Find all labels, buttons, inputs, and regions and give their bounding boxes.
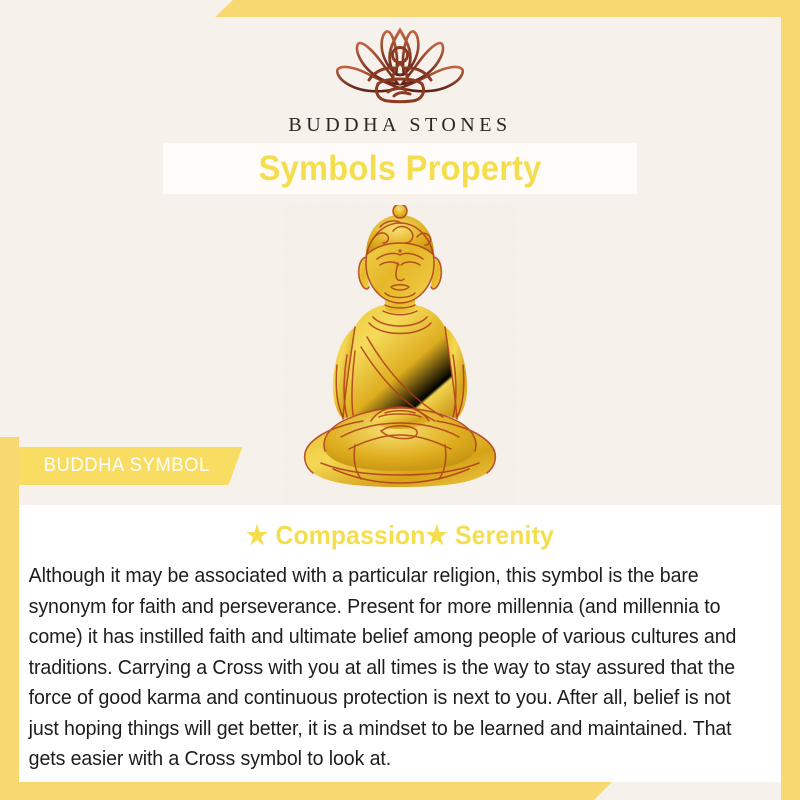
section-tag-label: BUDDHA SYMBOL	[44, 455, 210, 477]
lotus-meditation-icon	[316, 22, 484, 108]
content-subheading: ★ Compassion★ Serenity	[38, 520, 762, 551]
frame-accent-top	[215, 0, 800, 17]
section-tag-buddha-symbol: BUDDHA SYMBOL	[19, 447, 242, 485]
page-title: Symbols Property	[258, 149, 541, 189]
title-banner: Symbols Property	[163, 143, 637, 194]
brand-logo: BUDDHA STONES	[0, 22, 800, 137]
golden-seated-buddha-illustration	[285, 205, 515, 505]
brand-wordmark: BUDDHA STONES	[0, 114, 800, 137]
content-paragraph: Although it may be associated with a par…	[19, 561, 754, 775]
content-panel: ★ Compassion★ Serenity Although it may b…	[19, 505, 781, 782]
frame-accent-bottom	[0, 782, 612, 800]
infographic-page: BUDDHA STONES Symbols Property	[0, 0, 800, 800]
